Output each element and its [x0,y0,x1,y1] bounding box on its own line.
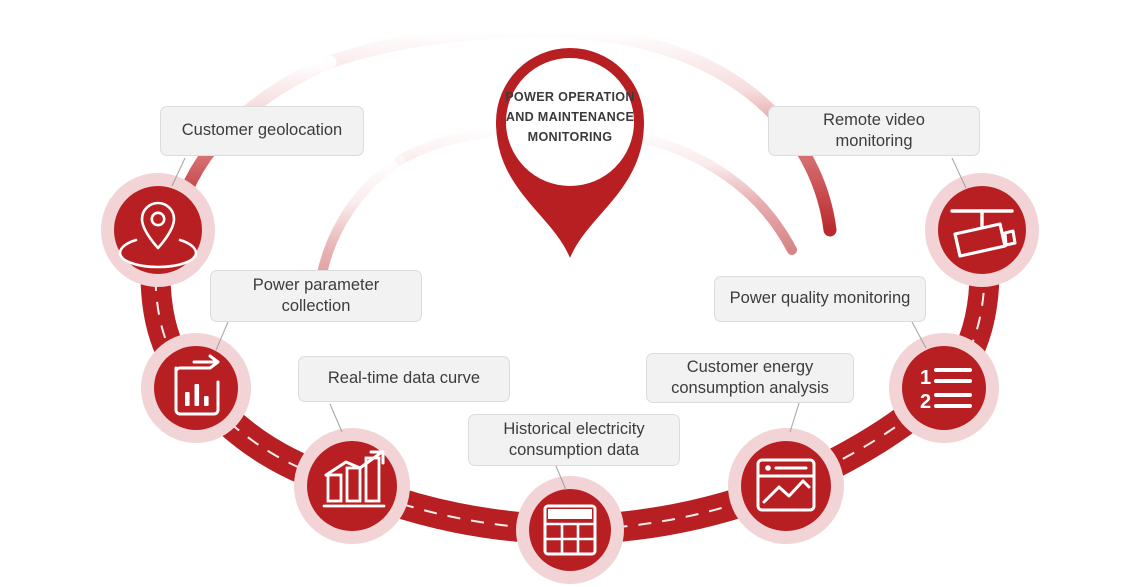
label-real-time-curve[interactable]: Real-time data curve [298,356,510,402]
svg-text:2: 2 [920,391,931,413]
center-pin-label: POWER OPERATION AND MAINTENANCE MONITORI… [488,88,652,148]
svg-text:1: 1 [920,367,931,389]
label-customer-energy[interactable]: Customer energy consumption analysis [646,353,854,403]
label-remote-video[interactable]: Remote video monitoring [768,106,980,156]
label-power-quality[interactable]: Power quality monitoring [714,276,926,322]
diagram-canvas: 1 2 POWER OPERATION AND MAINTENANCE MONI… [0,0,1139,587]
node-circle-power-quality[interactable] [902,346,986,430]
label-power-parameter[interactable]: Power parameter collection [210,270,422,322]
label-customer-geolocation[interactable]: Customer geolocation [160,106,364,156]
label-historical-data[interactable]: Historical electricity consumption data [468,414,680,466]
connector-real-time-curve [330,404,342,432]
node-circle-customer-energy[interactable] [741,441,831,531]
node-circle-historical-data[interactable] [529,489,611,571]
center-pin-shape[interactable] [496,48,644,258]
connector-customer-energy [790,400,800,432]
